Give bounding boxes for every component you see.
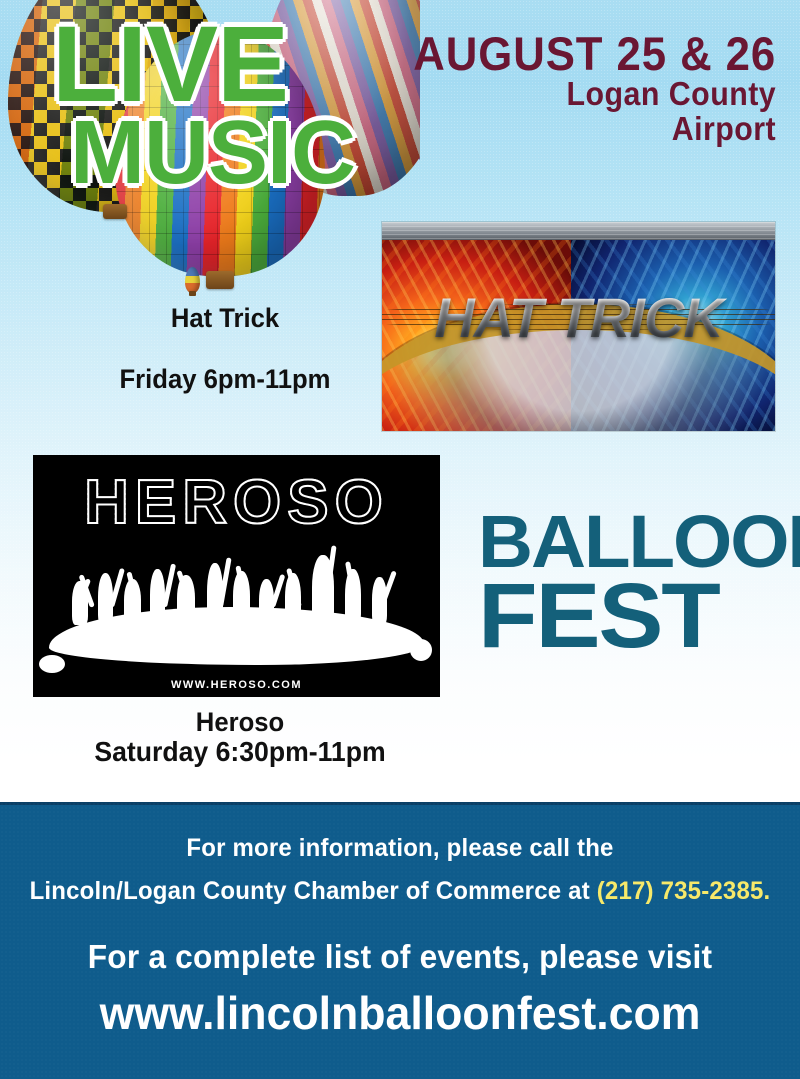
- balloon-basket: [103, 204, 127, 219]
- venue-name: Logan County: [417, 77, 776, 112]
- event-date: AUGUST 25 & 26: [413, 30, 776, 77]
- hat-trick-logo-text: HAT TRICK: [382, 285, 775, 350]
- footer-line-1: For more information, please call the: [16, 834, 784, 863]
- footer-website-link[interactable]: www.lincolnballoonfest.com: [12, 986, 788, 1040]
- footer-line-2: Lincoln/Logan County Chamber of Commerce…: [16, 877, 784, 906]
- crowd-silhouette-graphic: [49, 543, 424, 665]
- headline-line-music: MUSIC: [70, 115, 412, 192]
- heroso-band-logo: HEROSO: [33, 455, 440, 697]
- phone-number[interactable]: (217) 735-2385.: [597, 877, 771, 905]
- act-name-heroso: Heroso: [41, 708, 440, 737]
- heroso-website-text: WWW.HEROSO.COM: [33, 679, 440, 691]
- act-name-hat-trick: Hat Trick: [68, 305, 382, 332]
- hat-trick-caption: Hat Trick Friday 6pm-11pm: [60, 305, 390, 393]
- balloon-fest-logo: BALLOON FEST: [478, 512, 788, 654]
- heroso-caption: Heroso Saturday 6:30pm-11pm: [30, 708, 450, 766]
- chamber-text: Lincoln/Logan County Chamber of Commerce…: [30, 877, 597, 905]
- hat-trick-band-photo: HAT TRICK: [382, 222, 775, 431]
- small-distant-balloon-icon: [185, 267, 200, 293]
- headline-line-live: LIVE: [52, 18, 412, 111]
- act-schedule-hat-trick: Friday 6pm-11pm: [68, 366, 382, 393]
- footer-banner: For more information, please call the Li…: [0, 802, 800, 1079]
- heroso-logo-text: HEROSO: [33, 467, 440, 538]
- logo-line-fest: FEST: [478, 579, 800, 654]
- venue-type: Airport: [417, 112, 776, 147]
- balloon-basket: [206, 271, 234, 289]
- balloon-fest-poster: LIVE MUSIC AUGUST 25 & 26 Logan County A…: [0, 0, 800, 1079]
- live-music-headline: LIVE MUSIC: [52, 18, 412, 192]
- event-date-venue: AUGUST 25 & 26 Logan County Airport: [386, 30, 776, 147]
- act-schedule-heroso: Saturday 6:30pm-11pm: [41, 737, 440, 767]
- logo-line-balloon: BALLOON: [478, 512, 797, 573]
- footer-line-3: For a complete list of events, please vi…: [16, 938, 784, 976]
- small-distant-balloon-basket: [189, 291, 196, 296]
